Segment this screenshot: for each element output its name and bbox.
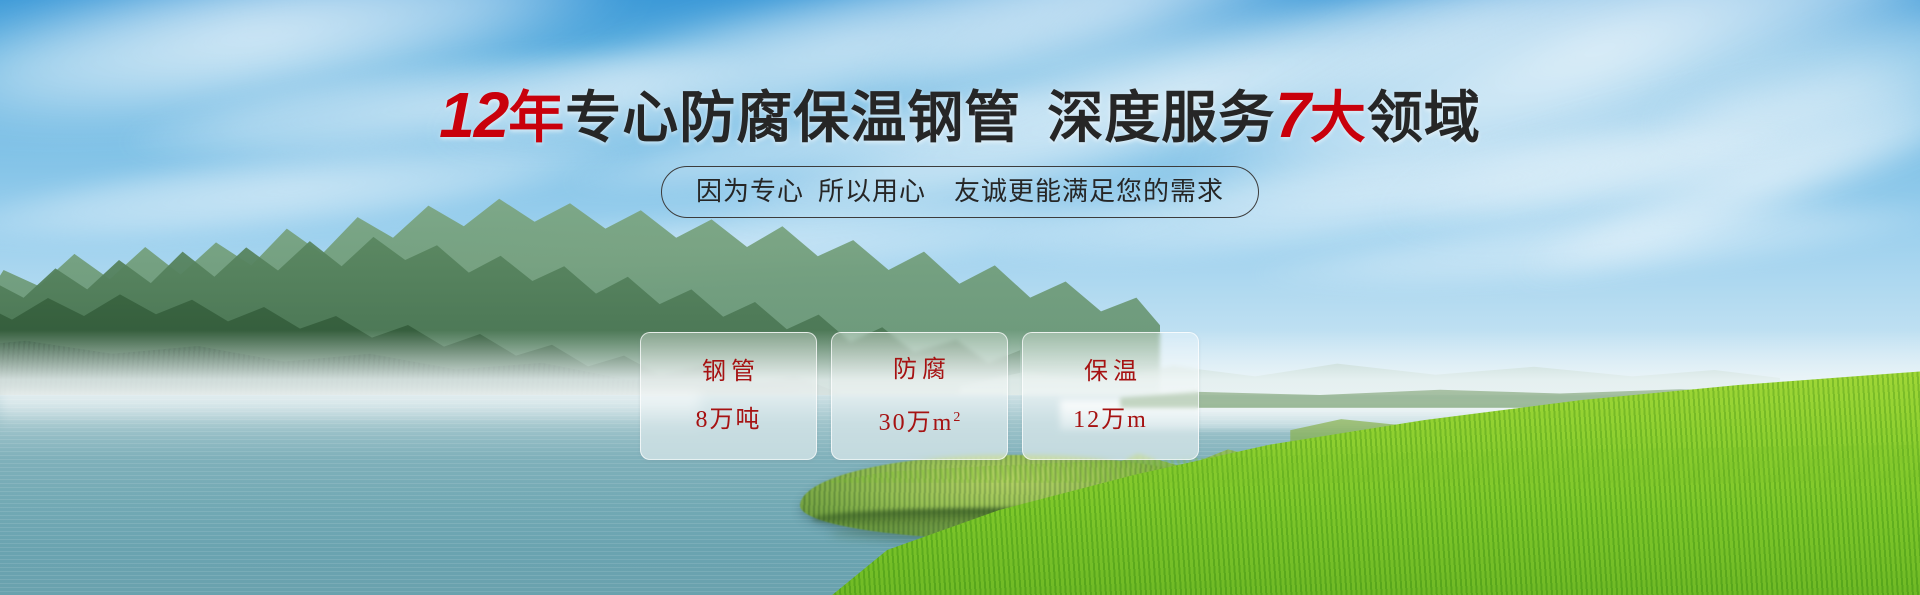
stat-card-value-main: 30万m: [879, 410, 954, 436]
headline: 12年专心防腐保温钢管深度服务7大领域: [0, 84, 1920, 149]
subtitle-pill: 因为专心所以用心友诚更能满足您的需求: [661, 166, 1259, 218]
subtitle-part-1: 因为专心: [696, 176, 804, 206]
stat-card-value: 30万m2: [879, 405, 961, 436]
headline-service-text: 深度服务: [1047, 86, 1275, 149]
stat-card-group: 钢管 8万吨 防腐 30万m2 保温 12万m: [640, 332, 1199, 460]
headline-years-unit: 年: [508, 86, 565, 149]
headline-fields-tail: 领域: [1367, 86, 1481, 149]
stat-card-anticorrosion[interactable]: 防腐 30万m2: [831, 332, 1008, 460]
headline-main-text: 专心防腐保温钢管: [565, 86, 1021, 149]
stat-card-insulation[interactable]: 保温 12万m: [1022, 332, 1199, 460]
stat-card-value: 8万吨: [696, 407, 762, 433]
stat-card-value-main: 12万m: [1073, 407, 1148, 433]
stat-card-steel-pipe[interactable]: 钢管 8万吨: [640, 332, 817, 460]
stat-card-value: 12万m: [1073, 407, 1148, 433]
water-highlight: [0, 392, 700, 432]
stat-card-value-main: 8万吨: [696, 407, 762, 433]
subtitle-part-2: 所以用心: [818, 176, 926, 206]
stat-card-label: 防腐: [888, 357, 951, 383]
subtitle-container: 因为专心所以用心友诚更能满足您的需求: [0, 166, 1920, 218]
stat-card-label: 保温: [1079, 359, 1142, 385]
subtitle-part-3: 友诚更能满足您的需求: [954, 176, 1224, 206]
stat-card-value-superscript: 2: [953, 410, 960, 425]
promo-banner: 12年专心防腐保温钢管深度服务7大领域 因为专心所以用心友诚更能满足您的需求 钢…: [0, 0, 1920, 595]
stat-card-label: 钢管: [697, 359, 760, 385]
headline-fields-number: 7: [1275, 79, 1310, 151]
headline-fields-unit: 大: [1310, 86, 1367, 149]
headline-years-number: 12: [439, 79, 508, 151]
